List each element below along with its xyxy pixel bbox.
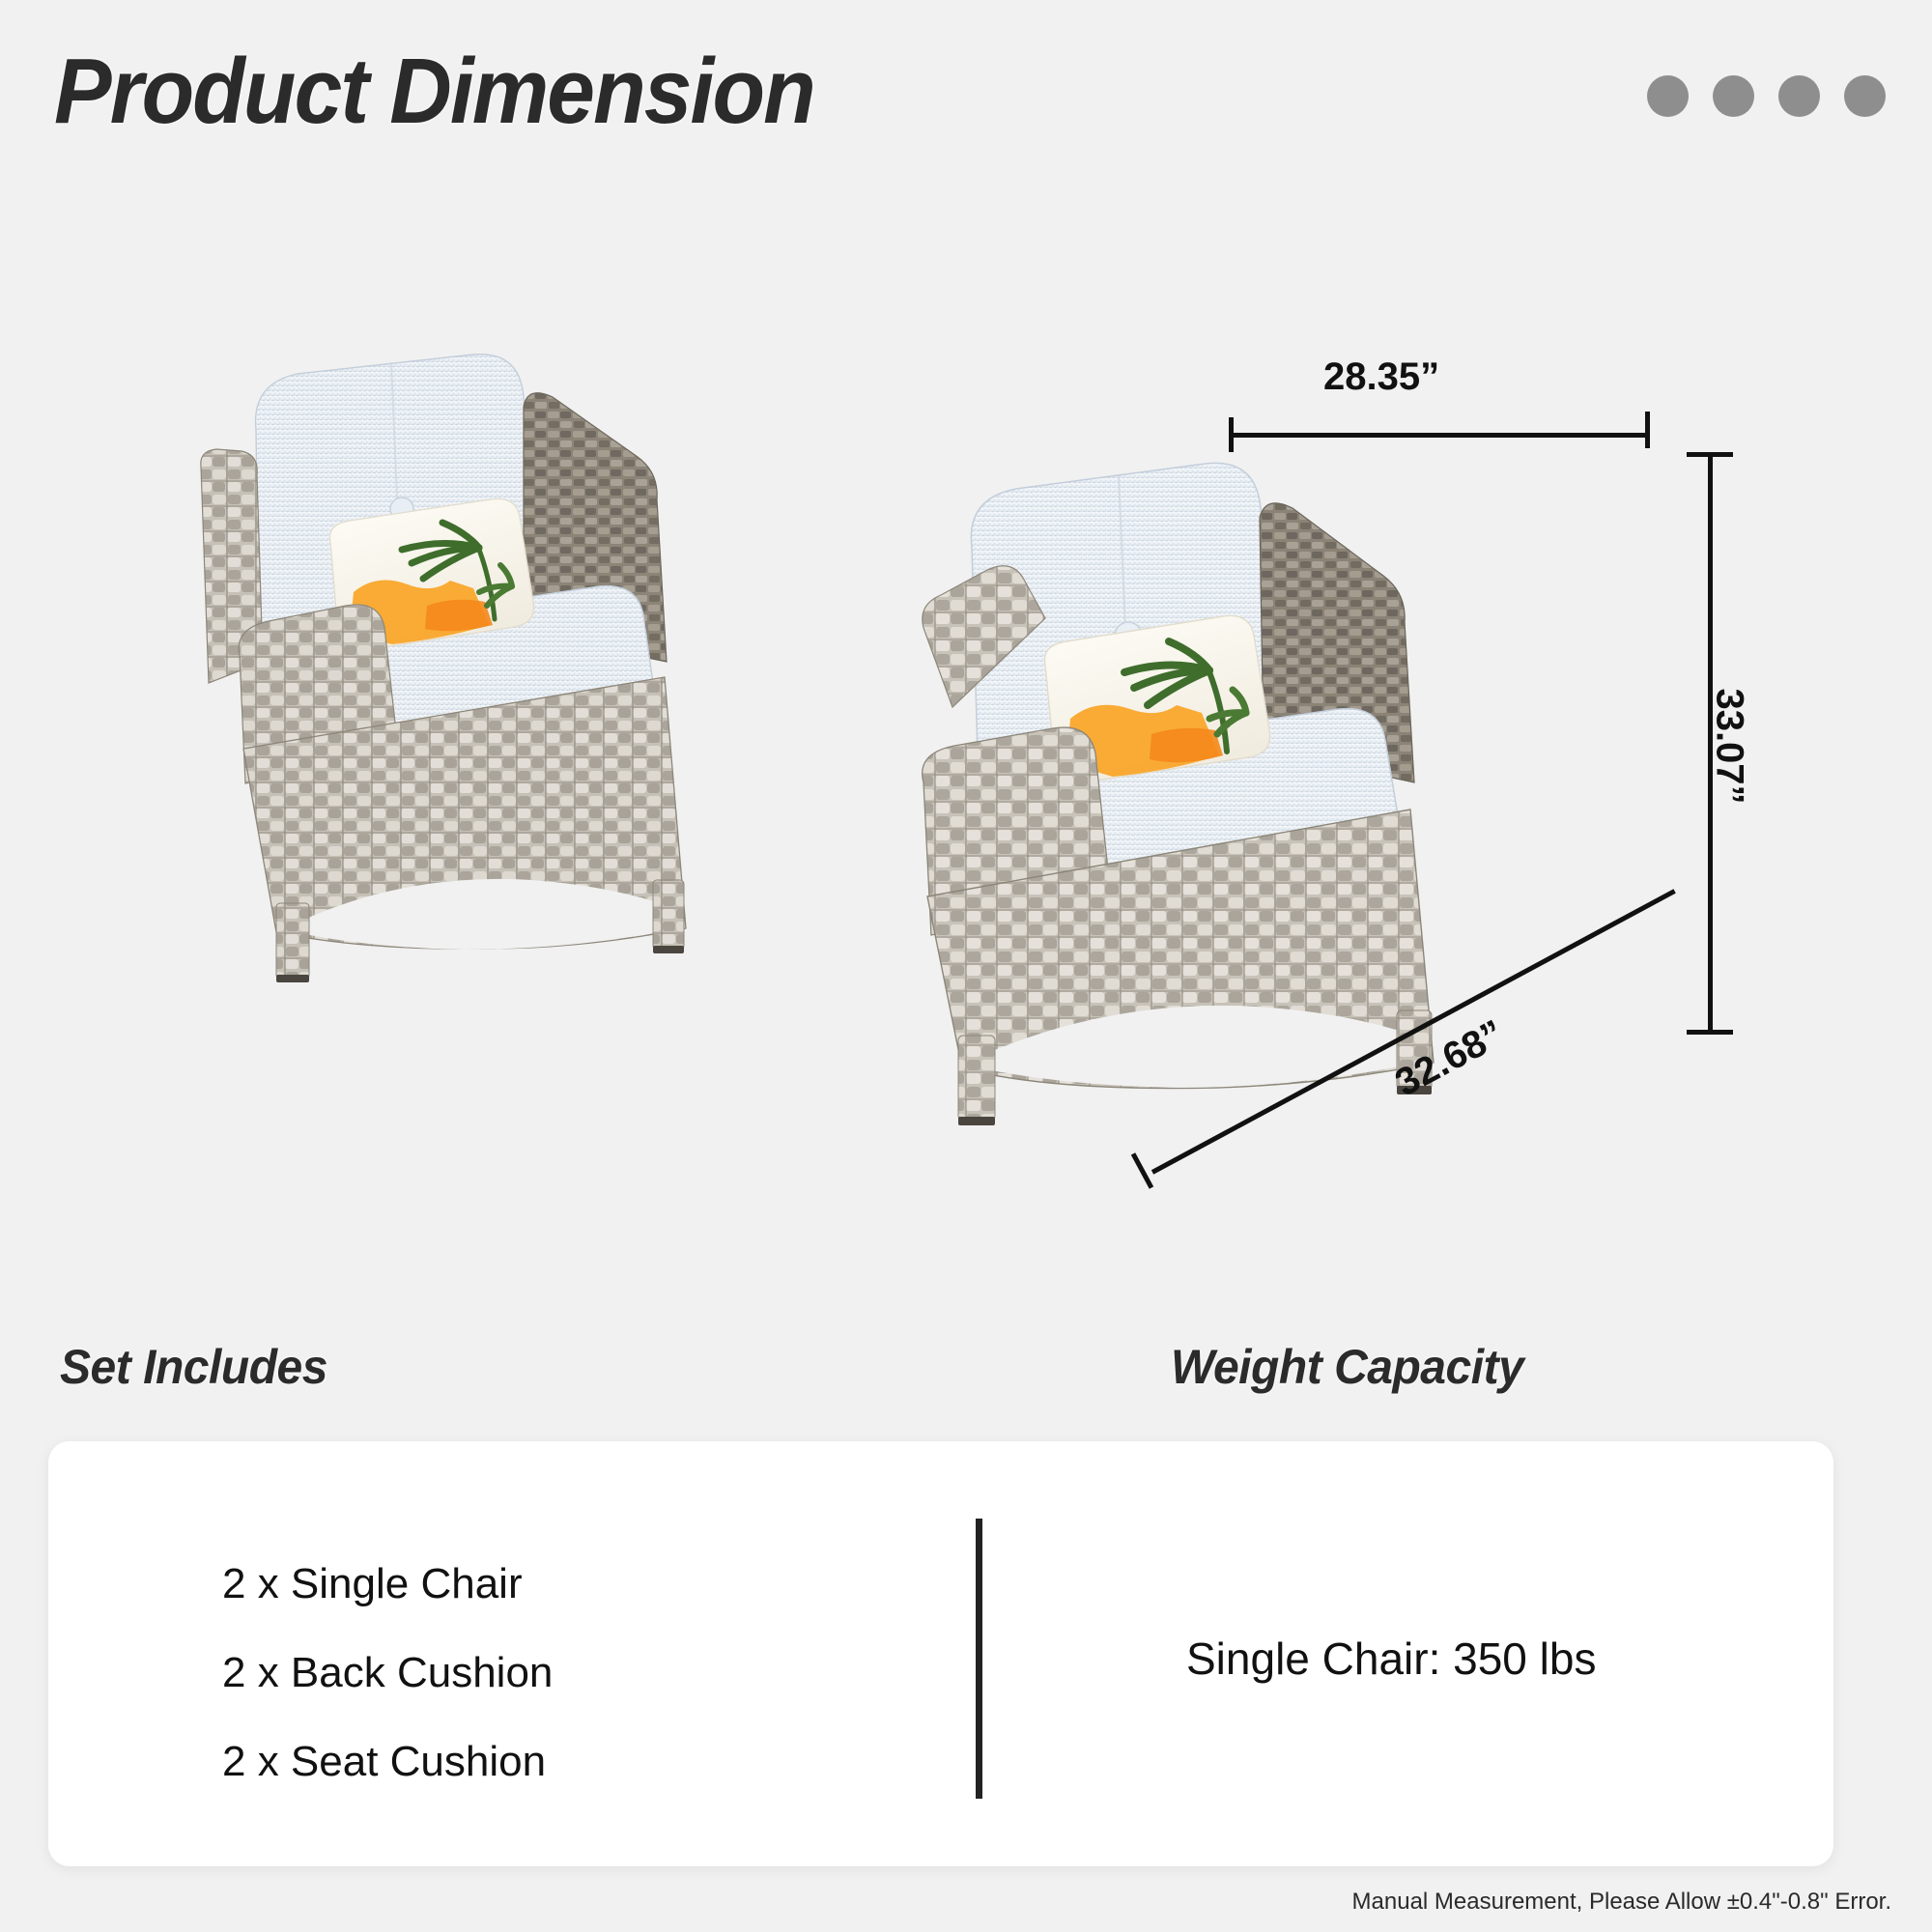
dot-indicator-4 xyxy=(1844,75,1886,117)
width-label: 28.35” xyxy=(1323,355,1439,399)
dimension-depth: 32.68” xyxy=(1140,976,1739,1198)
leg-front-left-2 xyxy=(958,1036,995,1121)
pagination-dots xyxy=(1647,75,1886,117)
weight-capacity-heading: Weight Capacity xyxy=(1171,1339,1523,1395)
list-item: 2 x Single Chair xyxy=(222,1560,553,1608)
depth-tick-left xyxy=(1131,1152,1153,1189)
list-item: 2 x Seat Cushion xyxy=(222,1738,553,1786)
depth-label: 32.68” xyxy=(1388,1012,1511,1106)
width-tick-left xyxy=(1229,417,1234,452)
dot-indicator-1 xyxy=(1647,75,1689,117)
product-image-stage: 28.35” 33.07” 32.68” xyxy=(0,164,1932,1323)
height-tick-top xyxy=(1687,452,1733,457)
measurement-disclaimer: Manual Measurement, Please Allow ±0.4"-0… xyxy=(1352,1889,1891,1916)
weight-capacity-value: Single Chair: 350 lbs xyxy=(1186,1633,1596,1685)
height-label: 33.07” xyxy=(1708,688,1751,804)
dot-indicator-2 xyxy=(1713,75,1754,117)
chair-left xyxy=(184,343,821,1077)
set-includes-heading: Set Includes xyxy=(60,1339,327,1395)
leg-front-left xyxy=(276,903,309,979)
card-divider xyxy=(976,1519,982,1799)
width-tick-right xyxy=(1645,412,1650,448)
set-includes-list: 2 x Single Chair 2 x Back Cushion 2 x Se… xyxy=(222,1560,553,1827)
page-title: Product Dimension xyxy=(54,39,814,145)
width-line xyxy=(1229,433,1650,438)
leg-front-right xyxy=(653,880,684,950)
list-item: 2 x Back Cushion xyxy=(222,1649,553,1697)
dot-indicator-3 xyxy=(1778,75,1820,117)
